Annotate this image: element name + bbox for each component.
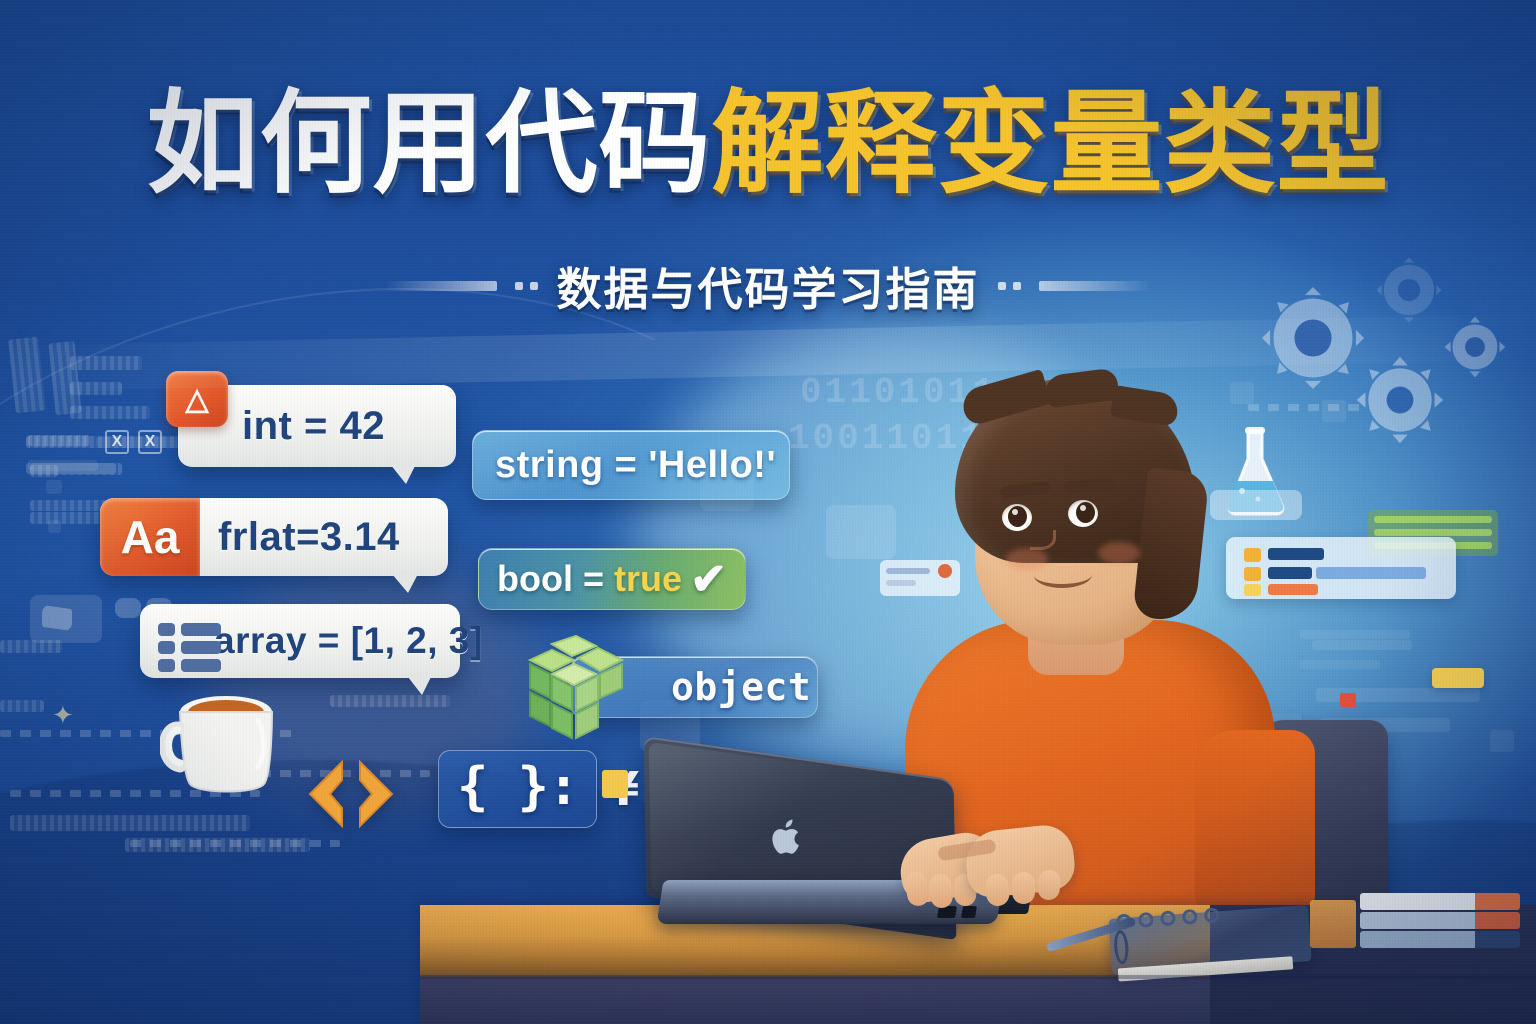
- title-gold-part: 解释变量类型: [712, 79, 1390, 209]
- title-block: 如何用代码解释变量类型: [0, 86, 1536, 202]
- page-subtitle: 数据与代码学习指南: [556, 253, 979, 318]
- subtitle-dots-left: [515, 282, 538, 290]
- subtitle-deco-left: [385, 281, 497, 291]
- title-white-part: 如何用代码: [147, 79, 712, 209]
- title-layer: 如何用代码解释变量类型 数据与代码学习指南: [0, 0, 1536, 1024]
- page-title: 如何用代码解释变量类型: [0, 86, 1536, 202]
- subtitle-block: 数据与代码学习指南: [0, 253, 1536, 318]
- subtitle-dots-right: [998, 282, 1021, 290]
- title-band-decoration: [0, 314, 1536, 392]
- subtitle-deco-right: [1039, 281, 1151, 291]
- poster-canvas: X X: [0, 0, 1536, 1024]
